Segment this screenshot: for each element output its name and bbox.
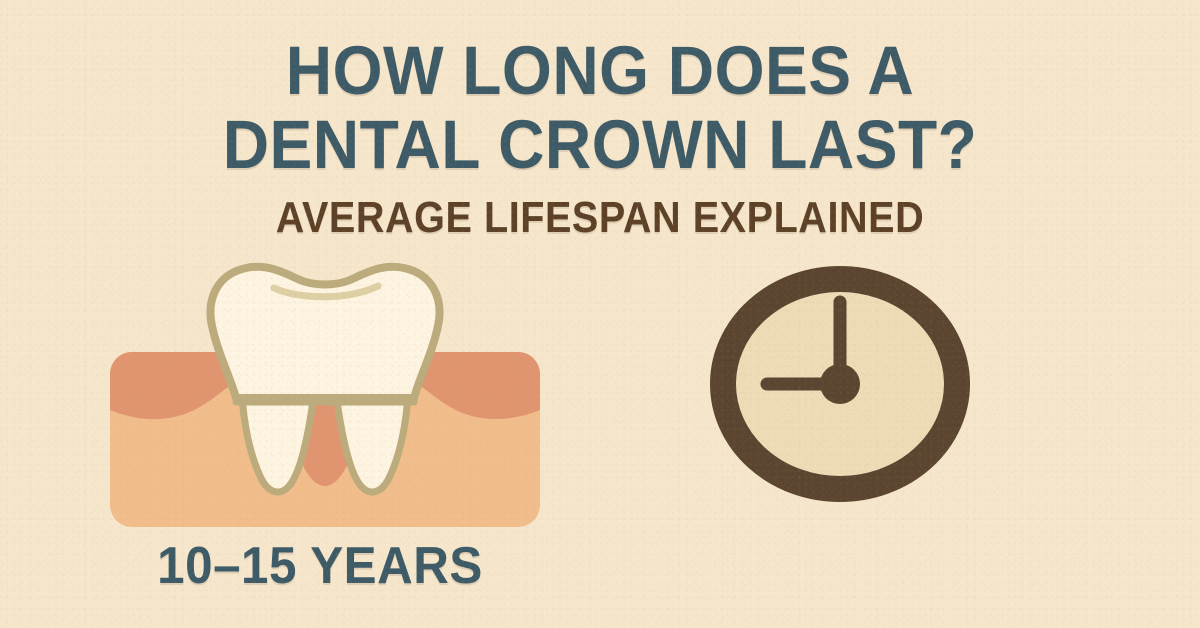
lifespan-caption: 10–15 YEARS <box>121 537 520 595</box>
headline-block: HOW LONG DOES A DENTAL CROWN LAST? AVERA… <box>0 34 1200 242</box>
clock-illustration <box>695 258 995 518</box>
dental-crown <box>210 267 439 402</box>
page-subtitle: AVERAGE LIFESPAN EXPLAINED <box>60 194 1140 242</box>
page-title-line-1: HOW LONG DOES A <box>42 34 1158 108</box>
poster-canvas: HOW LONG DOES A DENTAL CROWN LAST? AVERA… <box>0 0 1200 628</box>
clock-center-hub <box>820 364 860 404</box>
page-title-line-2: DENTAL CROWN LAST? <box>42 108 1158 182</box>
tooth-illustration <box>100 258 550 543</box>
